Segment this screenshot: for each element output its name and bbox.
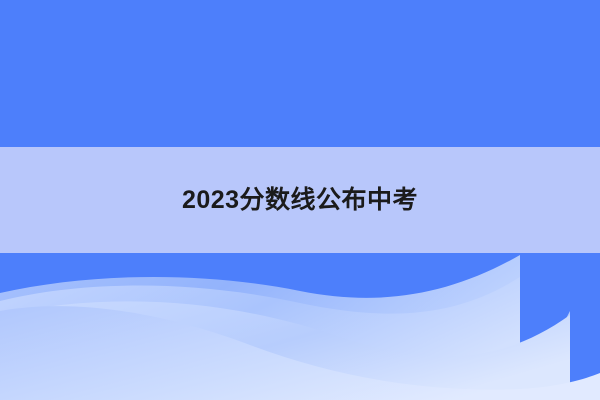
title-band: 2023分数线公布中考 xyxy=(0,147,600,253)
wave-band xyxy=(0,253,600,400)
banner-title: 2023分数线公布中考 xyxy=(182,188,418,213)
banner-image: 2023分数线公布中考 xyxy=(0,0,600,400)
wave-graphic xyxy=(0,253,600,400)
top-color-band xyxy=(0,0,600,147)
